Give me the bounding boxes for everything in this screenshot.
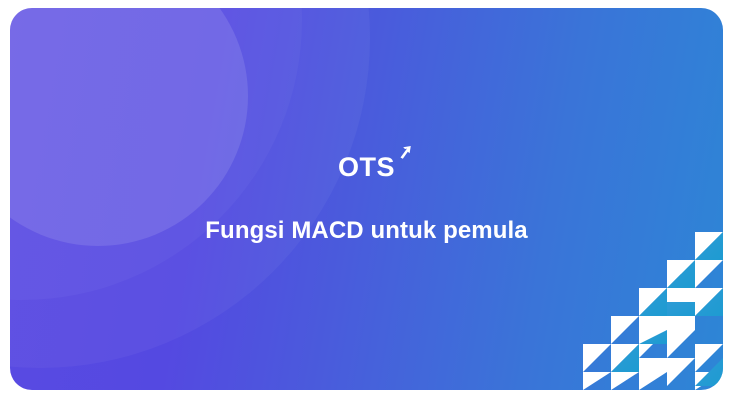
arrow-up-right-icon	[394, 145, 412, 163]
banner-card: OTS Fungsi MACD untuk pemula	[10, 8, 723, 390]
screenshot-stage: OTS Fungsi MACD untuk pemula	[0, 0, 735, 400]
page-title: Fungsi MACD untuk pemula	[205, 217, 527, 245]
banner-content: OTS Fungsi MACD untuk pemula	[10, 8, 723, 390]
brand-logo: OTS	[338, 154, 395, 181]
logo-text: OTS	[338, 154, 395, 181]
